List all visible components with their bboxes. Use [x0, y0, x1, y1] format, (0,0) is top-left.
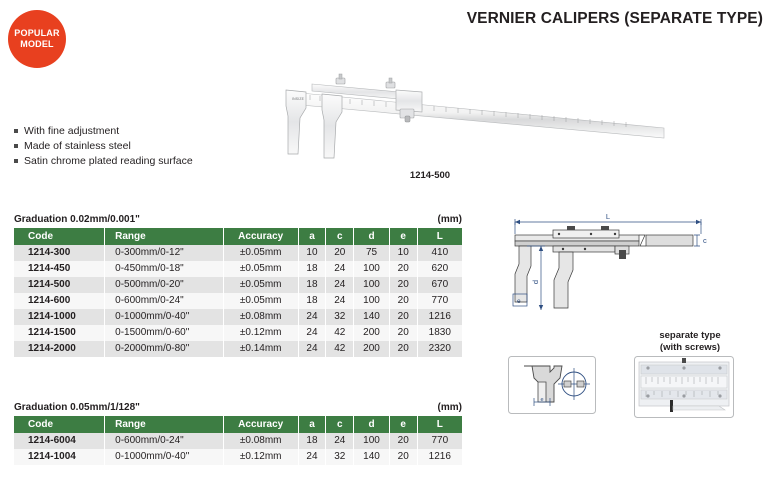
- cell-l: 770: [417, 293, 462, 309]
- table-graduation-005: Graduation 0.05mm/1/128" (mm) Code Range…: [14, 402, 462, 465]
- cell-d: 100: [354, 433, 390, 449]
- feature-text: Made of stainless steel: [24, 139, 131, 154]
- feature-text: With fine adjustment: [24, 124, 119, 139]
- cell-accuracy: ±0.05mm: [223, 261, 298, 277]
- table-row: 1214-2000 0-2000mm/0-80" ±0.14mm 24 42 2…: [14, 341, 462, 357]
- cell-code: 1214-6004: [14, 433, 105, 449]
- cell-a: 24: [298, 341, 326, 357]
- cell-code: 1214-600: [14, 293, 105, 309]
- feature-text: Satin chrome plated reading surface: [24, 154, 193, 169]
- spec-table: Code Range Accuracy a c d e L 1214-6004 …: [14, 416, 462, 465]
- cell-c: 32: [326, 449, 354, 465]
- cell-d: 100: [354, 277, 390, 293]
- cell-l: 770: [417, 433, 462, 449]
- cell-d: 140: [354, 449, 390, 465]
- cell-d: 200: [354, 341, 390, 357]
- cell-e: 20: [389, 325, 417, 341]
- table-header-row: Code Range Accuracy a c d e L: [14, 416, 462, 433]
- dim-label-c: c: [703, 236, 707, 245]
- cell-a: 18: [298, 433, 326, 449]
- table-row: 1214-1000 0-1000mm/0-40" ±0.08mm 24 32 1…: [14, 309, 462, 325]
- cell-l: 410: [417, 245, 462, 261]
- cell-e: 20: [389, 293, 417, 309]
- table-caption: Graduation 0.05mm/1/128" (mm): [14, 402, 462, 413]
- col-range: Range: [105, 228, 224, 245]
- cell-range: 0-600mm/0-24": [105, 293, 224, 309]
- cell-a: 24: [298, 309, 326, 325]
- cell-accuracy: ±0.12mm: [223, 325, 298, 341]
- badge-line-1: POPULAR: [14, 28, 59, 39]
- list-item: With fine adjustment: [14, 124, 193, 139]
- cell-e: 20: [389, 449, 417, 465]
- col-l: L: [417, 416, 462, 433]
- col-accuracy: Accuracy: [223, 416, 298, 433]
- col-range: Range: [105, 416, 224, 433]
- cell-l: 620: [417, 261, 462, 277]
- cell-e: 10: [389, 245, 417, 261]
- cell-d: 200: [354, 325, 390, 341]
- col-l: L: [417, 228, 462, 245]
- cell-range: 0-1500mm/0-60": [105, 325, 224, 341]
- cell-c: 24: [326, 277, 354, 293]
- cell-accuracy: ±0.05mm: [223, 293, 298, 309]
- table-header-row: Code Range Accuracy a c d e L: [14, 228, 462, 245]
- cell-range: 0-2000mm/0-80": [105, 341, 224, 357]
- cell-e: 20: [389, 433, 417, 449]
- cell-e: 20: [389, 309, 417, 325]
- cell-l: 2320: [417, 341, 462, 357]
- table-graduation-002: Graduation 0.02mm/0.001" (mm) Code Range…: [14, 214, 462, 357]
- separate-type-label: separate type (with screws): [620, 330, 760, 354]
- cell-a: 18: [298, 261, 326, 277]
- graduation-label: Graduation 0.02mm/0.001": [14, 214, 140, 225]
- table-row: 1214-1004 0-1000mm/0-40" ±0.12mm 24 32 1…: [14, 449, 462, 465]
- dim-label-L: L: [606, 212, 610, 221]
- cell-code: 1214-300: [14, 245, 105, 261]
- table-row: 1214-6004 0-600mm/0-24" ±0.08mm 18 24 10…: [14, 433, 462, 449]
- cell-code: 1214-2000: [14, 341, 105, 357]
- cell-e: 20: [389, 341, 417, 357]
- cell-accuracy: ±0.12mm: [223, 449, 298, 465]
- table-row: 1214-500 0-500mm/0-20" ±0.05mm 18 24 100…: [14, 277, 462, 293]
- cell-accuracy: ±0.08mm: [223, 433, 298, 449]
- cell-c: 24: [326, 293, 354, 309]
- col-d: d: [354, 416, 390, 433]
- cell-accuracy: ±0.05mm: [223, 245, 298, 261]
- cell-l: 1830: [417, 325, 462, 341]
- badge-line-2: MODEL: [20, 39, 54, 50]
- cell-l: 1216: [417, 309, 462, 325]
- cell-c: 32: [326, 309, 354, 325]
- page-title: VERNIER CALIPERS (SEPARATE TYPE): [467, 10, 763, 28]
- cell-a: 10: [298, 245, 326, 261]
- cell-range: 0-450mm/0-18": [105, 261, 224, 277]
- table-row: 1214-1500 0-1500mm/0-60" ±0.12mm 24 42 2…: [14, 325, 462, 341]
- cell-d: 100: [354, 261, 390, 277]
- cell-code: 1214-500: [14, 277, 105, 293]
- cell-l: 1216: [417, 449, 462, 465]
- table-caption: Graduation 0.02mm/0.001" (mm): [14, 214, 462, 225]
- cell-a: 24: [298, 449, 326, 465]
- svg-text:INSIZE: INSIZE: [292, 97, 305, 101]
- cell-code: 1214-1004: [14, 449, 105, 465]
- cell-c: 42: [326, 325, 354, 341]
- cell-code: 1214-1000: [14, 309, 105, 325]
- catalog-page: POPULAR MODEL VERNIER CALIPERS (SEPARATE…: [0, 0, 773, 481]
- feature-list: With fine adjustment Made of stainless s…: [14, 124, 193, 169]
- cell-c: 24: [326, 433, 354, 449]
- square-bullet-icon: [14, 159, 18, 163]
- col-c: c: [326, 416, 354, 433]
- col-a: a: [298, 228, 326, 245]
- jaw-crosssection-illustration: e: [508, 356, 596, 414]
- square-bullet-icon: [14, 144, 18, 148]
- square-bullet-icon: [14, 129, 18, 133]
- cell-range: 0-1000mm/0-40": [105, 309, 224, 325]
- cell-e: 20: [389, 277, 417, 293]
- cell-accuracy: ±0.05mm: [223, 277, 298, 293]
- unit-label: (mm): [438, 402, 462, 413]
- cell-range: 0-600mm/0-24": [105, 433, 224, 449]
- cell-code: 1214-1500: [14, 325, 105, 341]
- jaw-dim-label-e: e: [540, 397, 543, 403]
- cell-d: 140: [354, 309, 390, 325]
- cell-code: 1214-450: [14, 261, 105, 277]
- cell-c: 42: [326, 341, 354, 357]
- cell-e: 20: [389, 261, 417, 277]
- col-accuracy: Accuracy: [223, 228, 298, 245]
- product-caption: 1214-500: [330, 170, 530, 181]
- separate-type-line-2: (with screws): [620, 342, 760, 354]
- spec-table: Code Range Accuracy a c d e L 1214-300 0…: [14, 228, 462, 357]
- col-e: e: [389, 228, 417, 245]
- cell-range: 0-1000mm/0-40": [105, 449, 224, 465]
- col-d: d: [354, 228, 390, 245]
- cell-a: 24: [298, 325, 326, 341]
- cell-range: 0-500mm/0-20": [105, 277, 224, 293]
- dimension-diagram: L c: [505, 206, 767, 328]
- cell-c: 20: [326, 245, 354, 261]
- graduation-label: Graduation 0.05mm/1/128": [14, 402, 140, 413]
- col-code: Code: [14, 416, 105, 433]
- dim-label-d: d: [531, 280, 540, 284]
- cell-l: 670: [417, 277, 462, 293]
- popular-model-badge: POPULAR MODEL: [8, 10, 66, 68]
- cell-accuracy: ±0.14mm: [223, 341, 298, 357]
- unit-label: (mm): [438, 214, 462, 225]
- col-c: c: [326, 228, 354, 245]
- product-photo: INSIZE: [250, 62, 670, 167]
- table-row: 1214-300 0-300mm/0-12" ±0.05mm 10 20 75 …: [14, 245, 462, 261]
- dim-label-e: e: [517, 298, 521, 305]
- cell-d: 75: [354, 245, 390, 261]
- cell-a: 18: [298, 277, 326, 293]
- separate-type-illustration: [634, 356, 734, 418]
- table-row: 1214-600 0-600mm/0-24" ±0.05mm 18 24 100…: [14, 293, 462, 309]
- cell-accuracy: ±0.08mm: [223, 309, 298, 325]
- table-row: 1214-450 0-450mm/0-18" ±0.05mm 18 24 100…: [14, 261, 462, 277]
- col-a: a: [298, 416, 326, 433]
- separate-type-line-1: separate type: [620, 330, 760, 342]
- cell-range: 0-300mm/0-12": [105, 245, 224, 261]
- cell-a: 18: [298, 293, 326, 309]
- cell-d: 100: [354, 293, 390, 309]
- col-e: e: [389, 416, 417, 433]
- cell-c: 24: [326, 261, 354, 277]
- col-code: Code: [14, 228, 105, 245]
- list-item: Made of stainless steel: [14, 139, 193, 154]
- list-item: Satin chrome plated reading surface: [14, 154, 193, 169]
